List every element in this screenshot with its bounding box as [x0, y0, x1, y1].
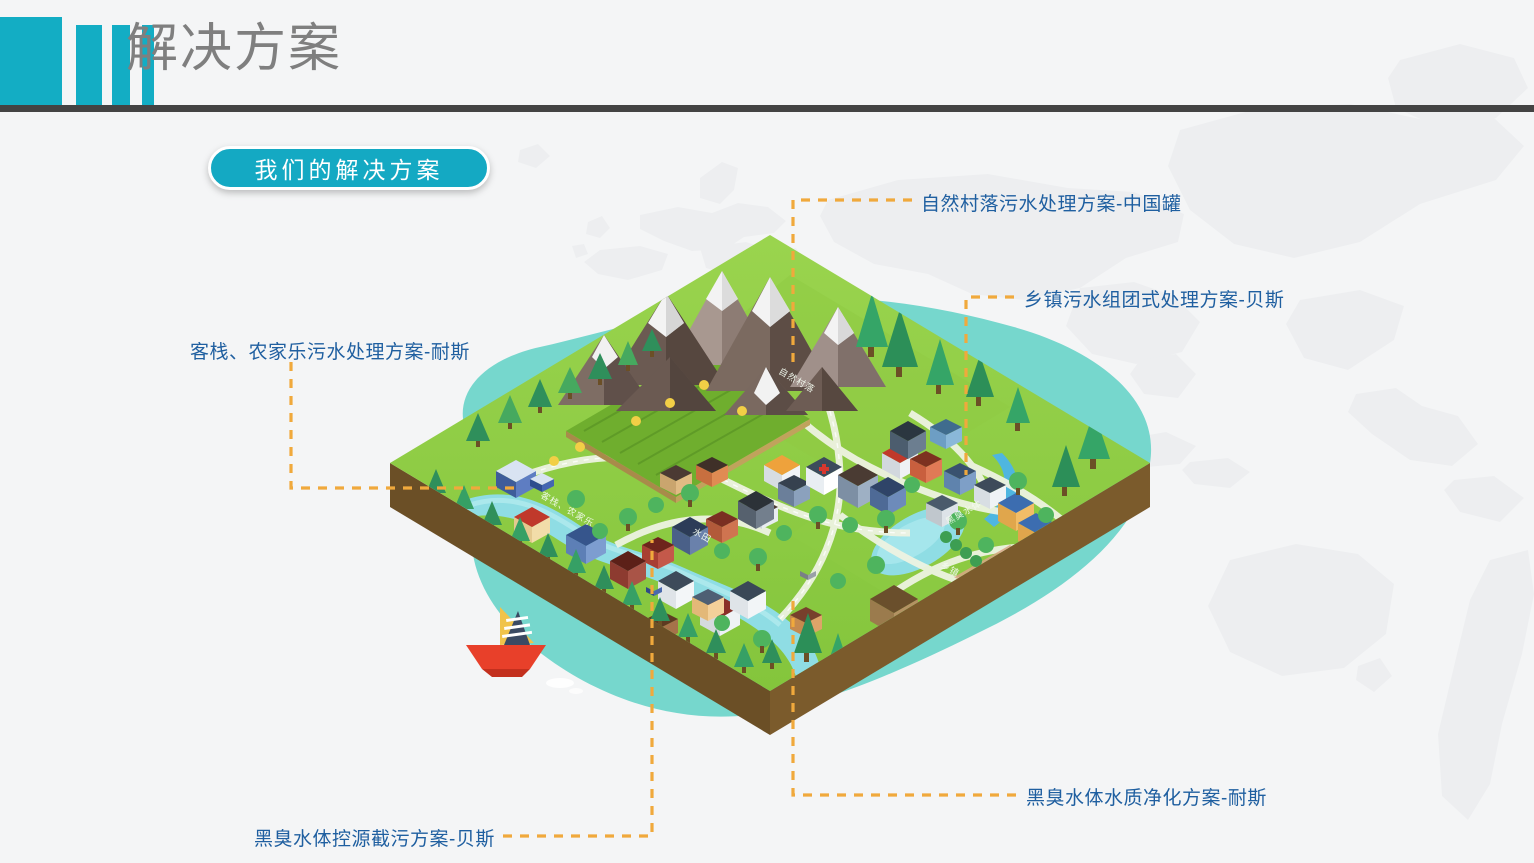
- page-title: 解决方案: [126, 23, 342, 75]
- boat-wake: [546, 678, 574, 688]
- page-header: 解决方案: [0, 0, 1534, 112]
- callout-label-inn[interactable]: 客栈、农家乐污水处理方案-耐斯: [190, 337, 470, 364]
- header-divider-rule: [0, 105, 1534, 112]
- callout-label-town[interactable]: 乡镇污水组团式处理方案-贝斯: [1024, 285, 1284, 312]
- callout-label-village[interactable]: 自然村落污水处理方案-中国罐: [921, 189, 1181, 216]
- callout-label-water-purification[interactable]: 黑臭水体水质净化方案-耐斯: [1026, 783, 1267, 810]
- section-badge-label: 我们的解决方案: [255, 151, 444, 185]
- header-accent-bar-2: [76, 25, 102, 109]
- section-badge[interactable]: 我们的解决方案: [208, 146, 490, 190]
- header-accent-bar-1: [0, 17, 62, 109]
- callout-label-water-interception[interactable]: 黑臭水体控源截污方案-贝斯: [254, 824, 495, 851]
- boat-wake-small: [569, 688, 583, 694]
